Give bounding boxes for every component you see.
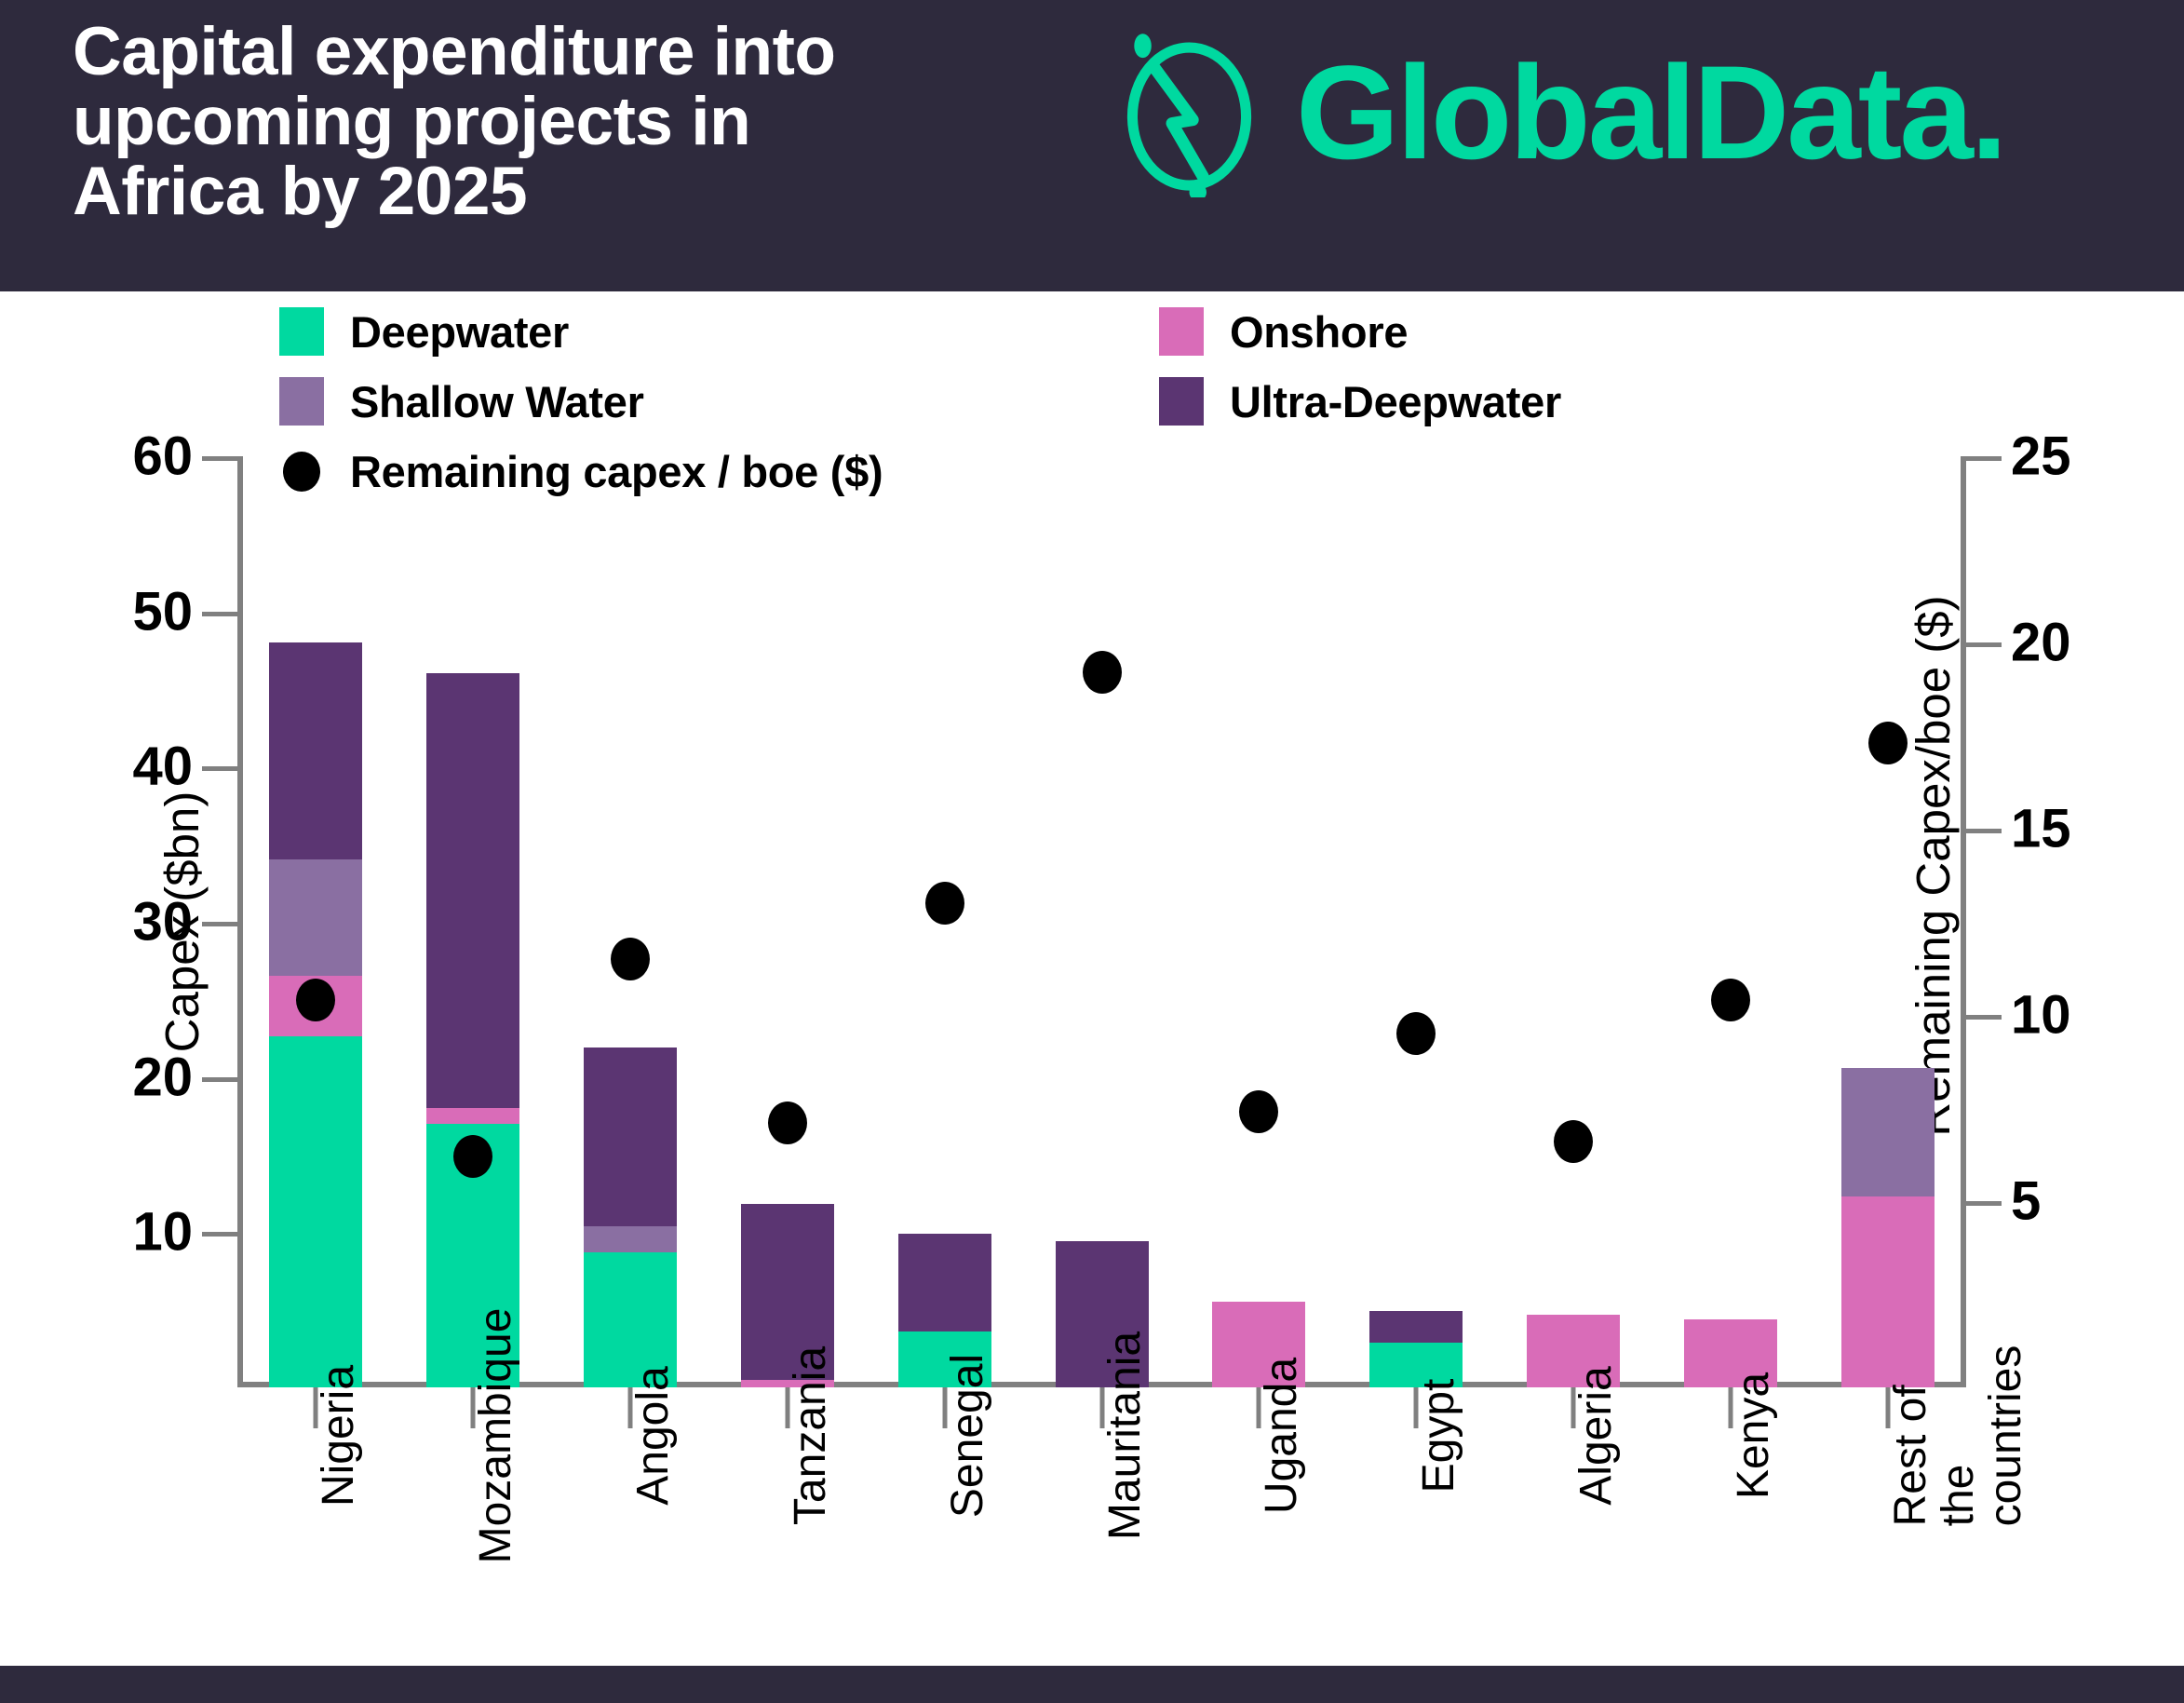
x-axis-label: Senegal xyxy=(945,1354,992,1518)
scatter-point[interactable] xyxy=(453,1135,492,1178)
x-axis-label: Angola xyxy=(630,1366,678,1505)
scatter-point[interactable] xyxy=(1554,1120,1593,1163)
scatter-point[interactable] xyxy=(611,938,650,980)
x-axis-label: Rest of the countries xyxy=(1888,1345,2030,1527)
legend-swatch-icon xyxy=(1159,377,1204,426)
legend-swatch-icon xyxy=(279,307,324,356)
scatter-point[interactable] xyxy=(296,979,335,1021)
y-axis-right-tick-label: 5 xyxy=(2011,1170,2041,1233)
x-axis-label: Kenya xyxy=(1731,1372,1778,1499)
y-axis-right-tick xyxy=(1966,829,2002,833)
x-axis-label: Uganda xyxy=(1259,1358,1306,1514)
legend-label: Onshore xyxy=(1230,306,1408,358)
y-axis-right-tick xyxy=(1966,456,2002,461)
x-axis-label: Algeria xyxy=(1573,1366,1621,1505)
y-axis-right-tick xyxy=(1966,642,2002,647)
y-axis-right-tick-label: 15 xyxy=(2011,798,2071,860)
scatter-point[interactable] xyxy=(1711,979,1750,1021)
legend-item-shallow-water[interactable]: Shallow Water xyxy=(279,372,883,430)
scatter-point[interactable] xyxy=(1083,651,1122,694)
scatter-point[interactable] xyxy=(1396,1012,1436,1055)
x-axis-label: Egypt xyxy=(1416,1379,1463,1494)
chart-legend: Deepwater Shallow Water Remaining capex … xyxy=(279,303,1955,475)
chart-plot-area: Capex ($bn) Remaining Capex/boe ($) 1020… xyxy=(237,456,1966,1387)
y-axis-left-tick-label: 60 xyxy=(132,426,193,488)
legend-swatch-icon xyxy=(1159,307,1204,356)
x-axis-label: Tanzania xyxy=(788,1346,835,1525)
legend-label: Shallow Water xyxy=(350,376,644,427)
legend-column-right: Onshore Ultra-Deepwater xyxy=(1159,303,1561,442)
scatter-point[interactable] xyxy=(1868,722,1908,764)
globaldata-logo-icon xyxy=(1103,25,1275,197)
legend-label: Deepwater xyxy=(350,306,569,358)
y-axis-left-tick-label: 20 xyxy=(132,1046,193,1108)
x-axis-label: Mozambique xyxy=(473,1308,520,1564)
globaldata-logo: GlobalData. xyxy=(1103,20,2146,202)
y-axis-left-tick-label: 30 xyxy=(132,891,193,953)
scatter-point[interactable] xyxy=(768,1102,807,1144)
y-axis-left-tick xyxy=(202,612,237,616)
legend-item-ultra-deepwater[interactable]: Ultra-Deepwater xyxy=(1159,372,1561,430)
brand-name: GlobalData. xyxy=(1296,47,2005,180)
legend-item-deepwater[interactable]: Deepwater xyxy=(279,303,883,360)
y-axis-left-tick xyxy=(202,1232,237,1237)
header-banner: Capital expenditure into upcoming projec… xyxy=(0,0,2184,291)
y-axis-left-tick-label: 40 xyxy=(132,736,193,798)
y-axis-right-tick-label: 20 xyxy=(2011,612,2071,674)
y-axis-left-tick xyxy=(202,1077,237,1082)
legend-label: Ultra-Deepwater xyxy=(1230,376,1561,427)
legend-swatch-icon xyxy=(279,377,324,426)
scatter-layer xyxy=(237,456,1966,1387)
y-axis-right-tick-label: 25 xyxy=(2011,426,2071,488)
legend-item-onshore[interactable]: Onshore xyxy=(1159,303,1561,360)
y-axis-left-tick xyxy=(202,766,237,771)
y-axis-left-tick xyxy=(202,456,237,461)
scatter-point[interactable] xyxy=(1239,1090,1278,1133)
y-axis-right-tick xyxy=(1966,1015,2002,1020)
y-axis-left-tick xyxy=(202,922,237,926)
scatter-point[interactable] xyxy=(925,882,964,925)
y-axis-right-tick xyxy=(1966,1201,2002,1206)
x-axis-label: Mauritania xyxy=(1102,1331,1150,1540)
y-axis-right-tick-label: 10 xyxy=(2011,984,2071,1047)
y-axis-left-tick-label: 10 xyxy=(132,1201,193,1264)
x-axis-label: Nigeria xyxy=(316,1365,363,1507)
y-axis-left-tick-label: 50 xyxy=(132,580,193,642)
footer-bar xyxy=(0,1666,2184,1703)
page-title: Capital expenditure into upcoming projec… xyxy=(73,17,1031,227)
